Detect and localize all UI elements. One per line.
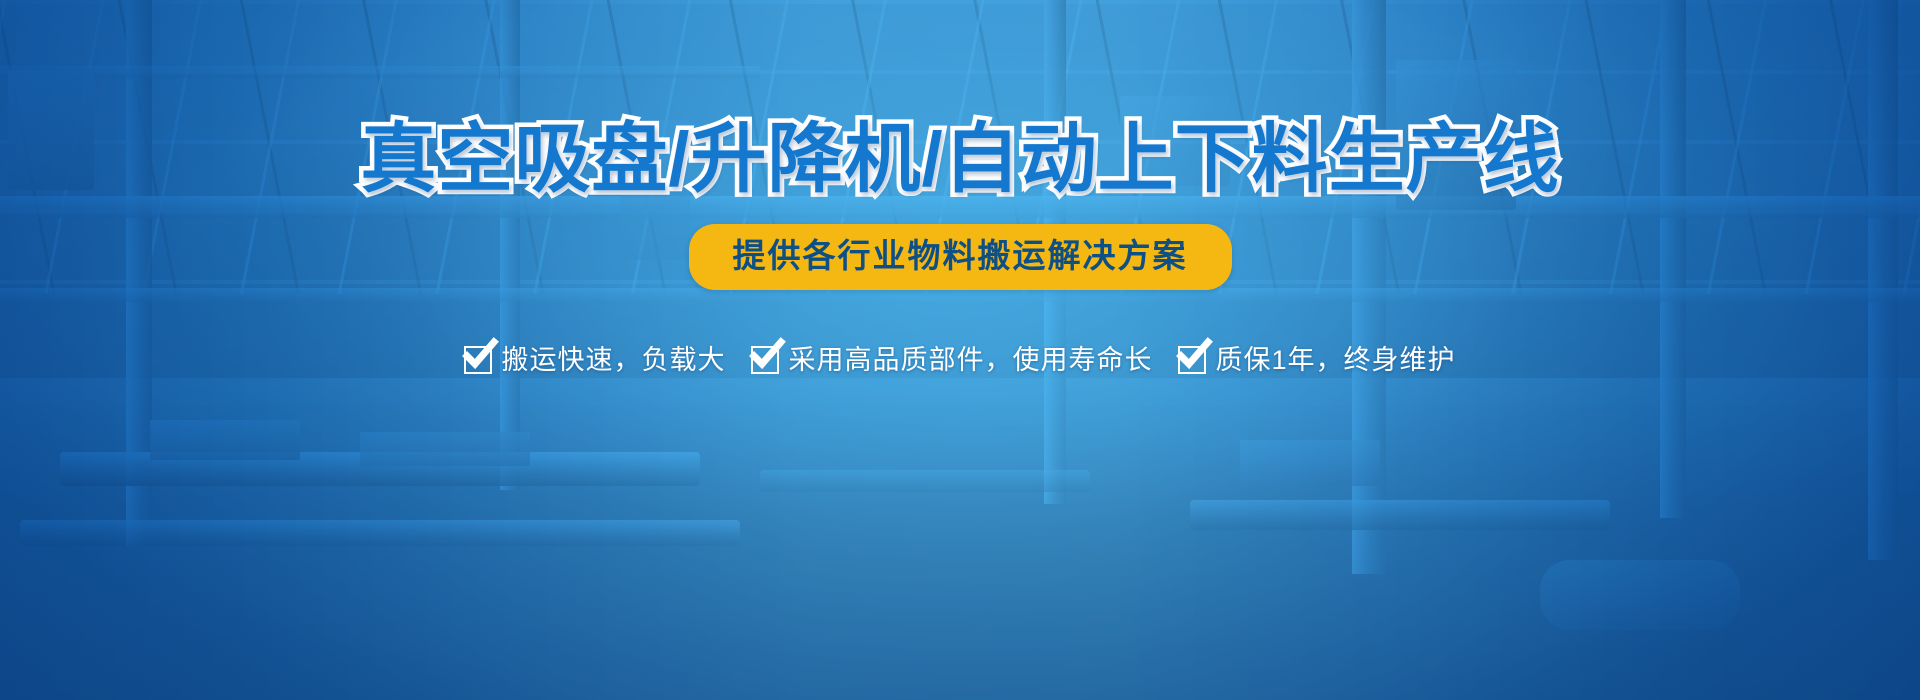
hero-banner: 真空吸盘/升降机/自动上下料生产线 提供各行业物料搬运解决方案 搬运快速，负载大… bbox=[0, 0, 1920, 700]
checkbox-checked-icon bbox=[464, 346, 492, 374]
banner-subtitle-badge: 提供各行业物料搬运解决方案 bbox=[689, 224, 1232, 290]
feature-bullet-label: 采用高品质部件，使用寿命长 bbox=[788, 347, 1152, 374]
feature-bullet-item: 采用高品质部件，使用寿命长 bbox=[751, 346, 1152, 374]
banner-content: 真空吸盘/升降机/自动上下料生产线 提供各行业物料搬运解决方案 搬运快速，负载大… bbox=[0, 0, 1920, 700]
feature-bullet-item: 质保1年，终身维护 bbox=[1178, 346, 1455, 374]
feature-bullet-list: 搬运快速，负载大 采用高品质部件，使用寿命长 质保1年，终身维护 bbox=[464, 346, 1455, 374]
feature-bullet-label: 质保1年，终身维护 bbox=[1215, 347, 1455, 374]
banner-headline: 真空吸盘/升降机/自动上下料生产线 bbox=[360, 122, 1559, 198]
checkbox-checked-icon bbox=[751, 346, 779, 374]
feature-bullet-item: 搬运快速，负载大 bbox=[464, 346, 725, 374]
checkbox-checked-icon bbox=[1178, 346, 1206, 374]
feature-bullet-label: 搬运快速，负载大 bbox=[501, 347, 725, 374]
